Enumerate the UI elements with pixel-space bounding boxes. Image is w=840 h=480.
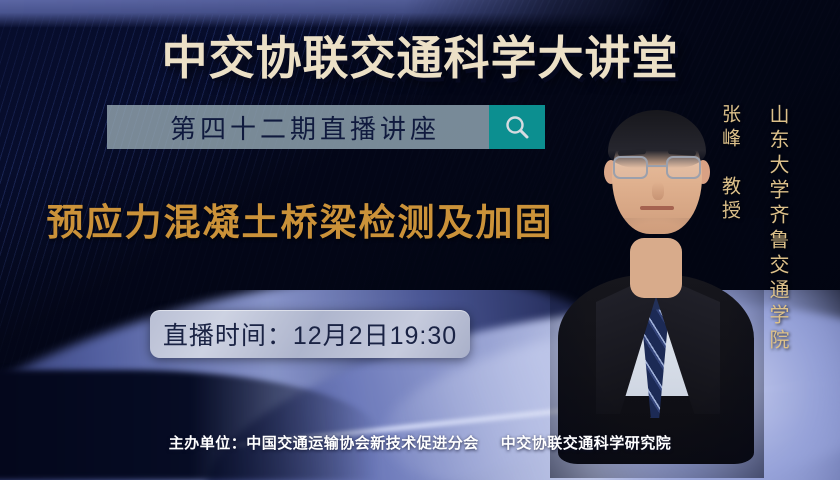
lens-left	[613, 156, 648, 179]
organizer-label: 主办单位：	[169, 435, 247, 452]
episode-label: 第四十二期直播讲座	[107, 109, 489, 146]
lens-right	[666, 156, 701, 179]
neck	[630, 238, 682, 298]
glasses-bridge	[648, 165, 666, 167]
speaker-name: 张峰 教授	[716, 104, 743, 224]
speaker-affiliation: 山东大学齐鲁交通学院	[763, 104, 792, 354]
live-lecture-poster: 中交协联交通科学大讲堂 第四十二期直播讲座 预应力混凝土桥梁检测及加固 直播时间…	[0, 0, 840, 480]
nose	[652, 182, 664, 200]
page-title: 中交协联交通科学大讲堂	[0, 22, 840, 88]
organizer-primary: 中国交通运输协会新技术促进分会	[246, 435, 479, 452]
eyeglasses	[613, 156, 701, 180]
live-time-badge: 直播时间：12月2日19:30	[150, 310, 470, 358]
episode-banner: 第四十二期直播讲座	[107, 105, 545, 149]
mouth	[640, 206, 674, 210]
organizer-footer: 主办单位：中国交通运输协会新技术促进分会中交协联交通科学研究院	[0, 432, 840, 453]
organizer-secondary: 中交协联交通科学研究院	[501, 435, 672, 452]
search-icon[interactable]	[489, 105, 545, 149]
lecture-topic: 预应力混凝土桥梁检测及加固	[0, 192, 600, 246]
